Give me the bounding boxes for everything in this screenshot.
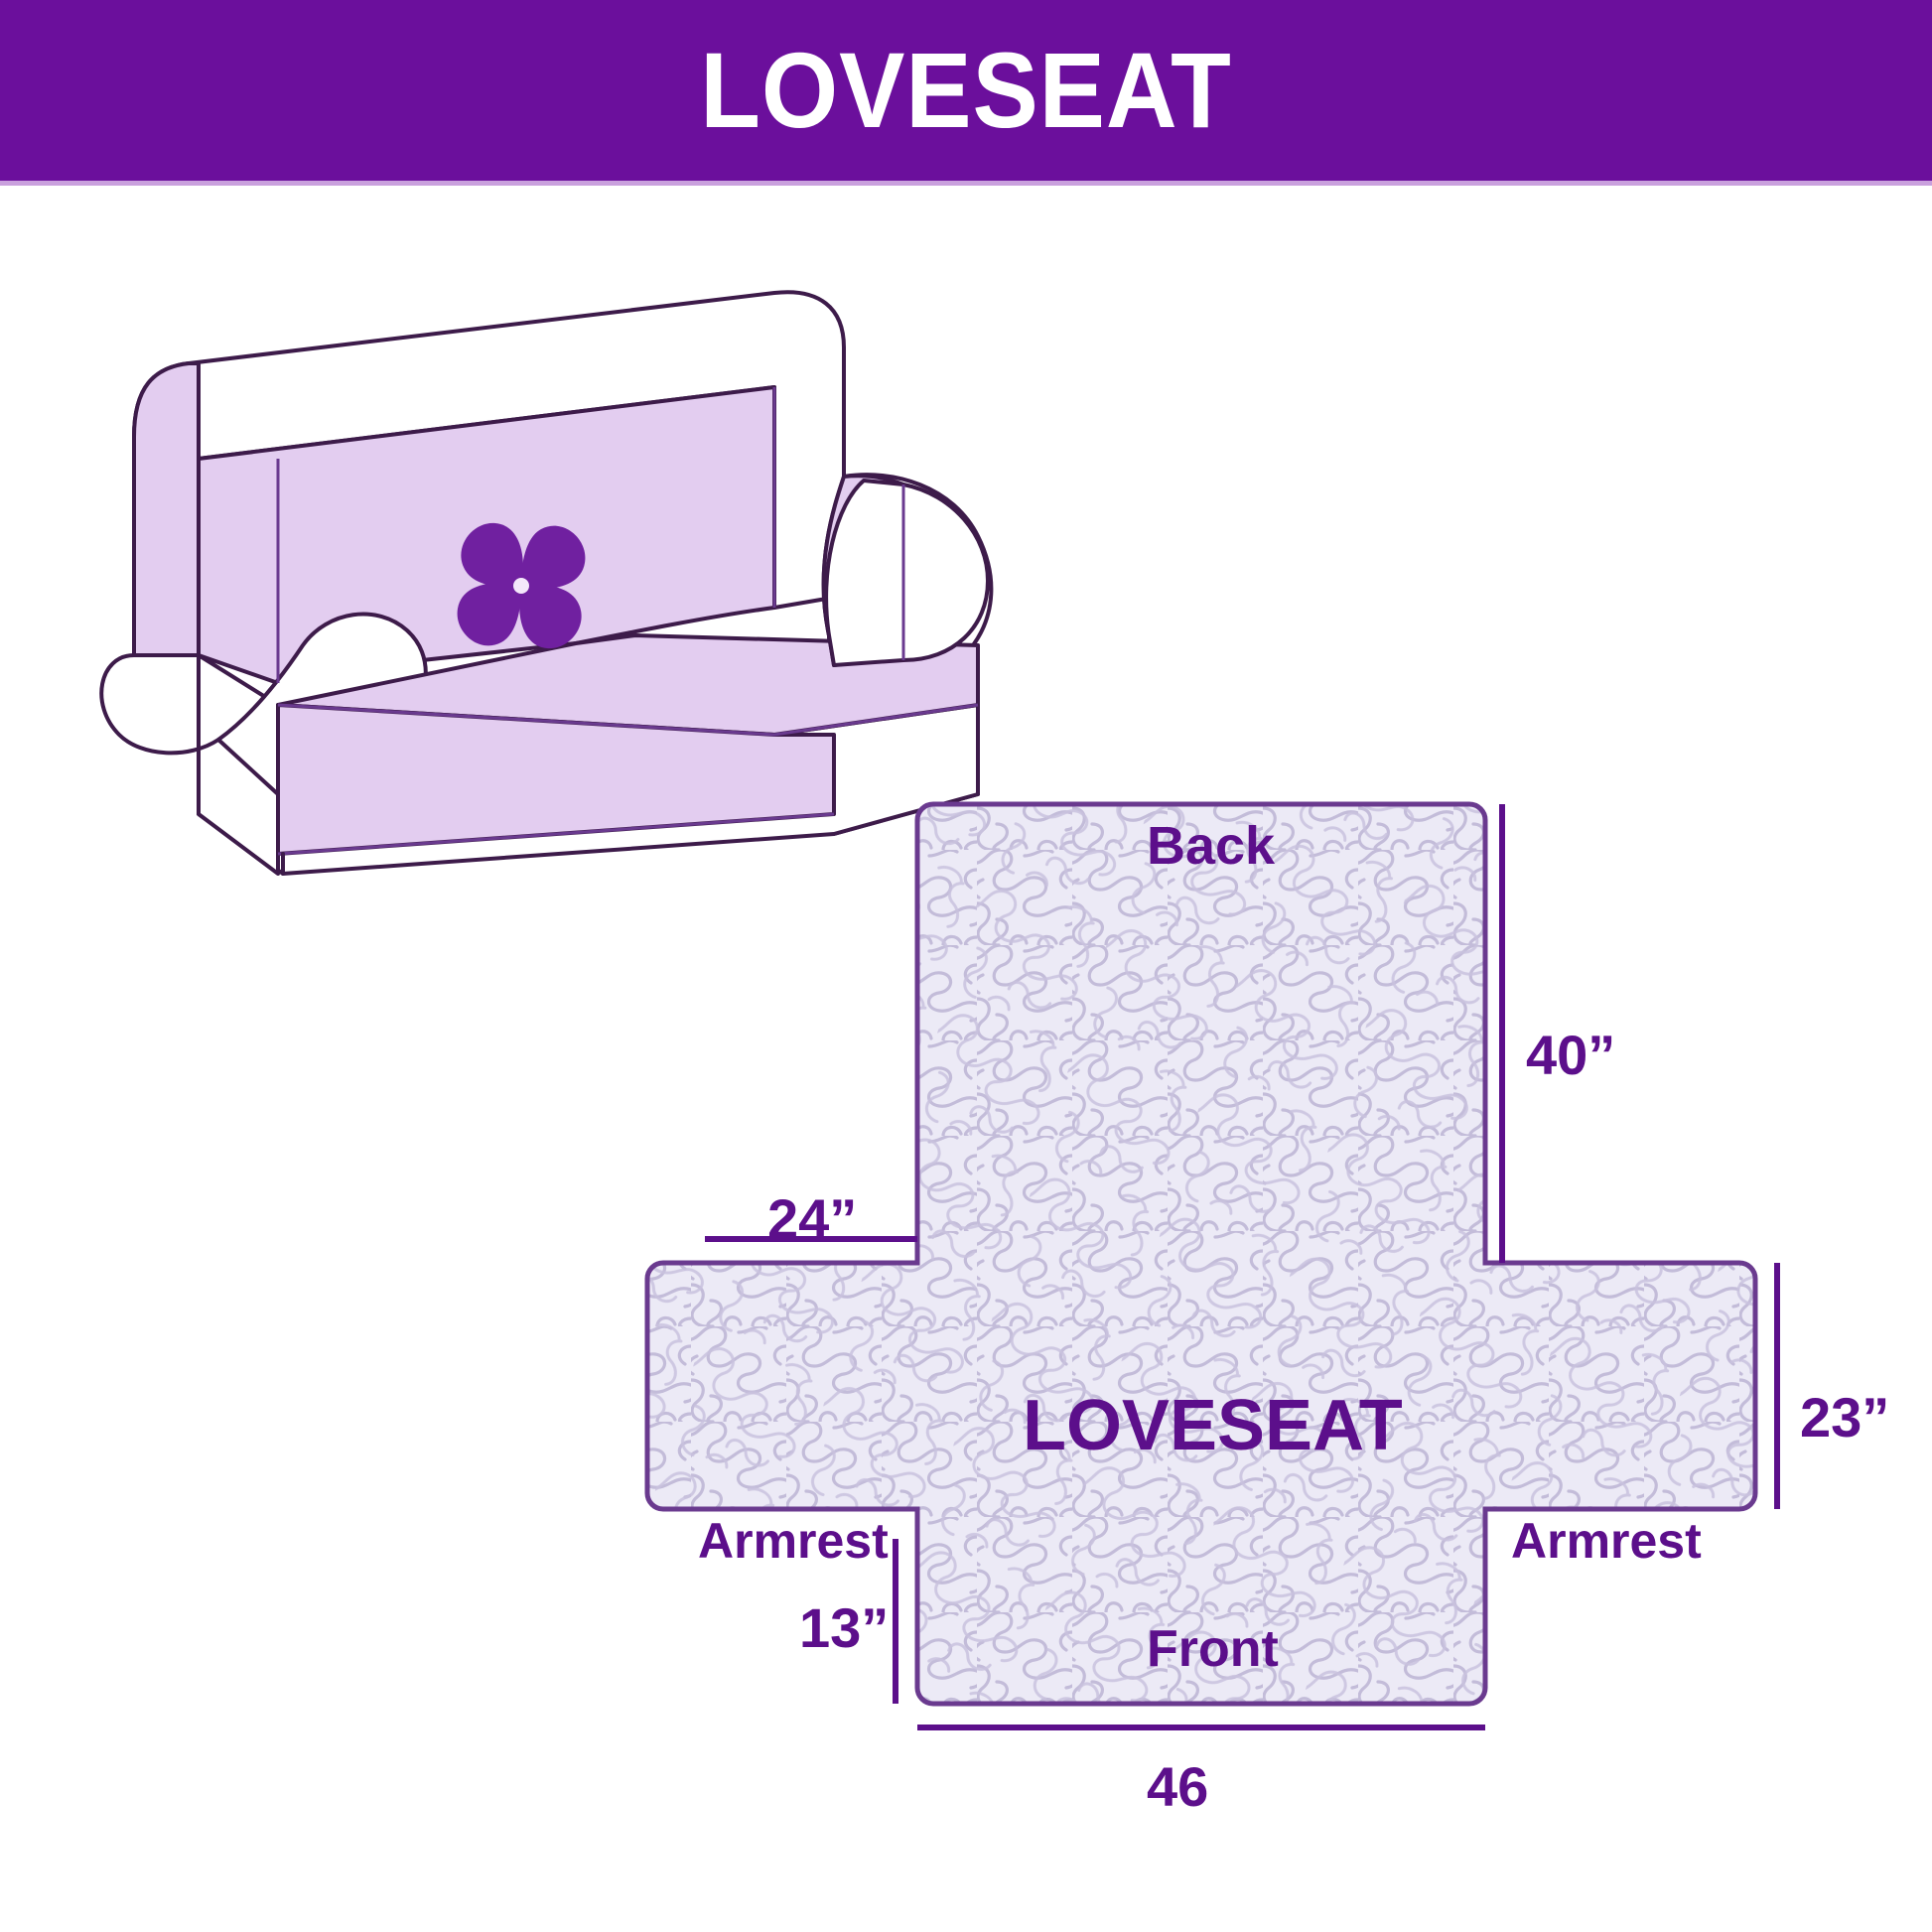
dimension-label-front-width: 46 — [1147, 1759, 1208, 1815]
page-header: LOVESEAT — [0, 0, 1932, 181]
dimension-label-back-width: 24” — [767, 1191, 857, 1247]
panel-label-armrest-right: Armrest — [1511, 1516, 1702, 1566]
dimension-label-armrest-height: 23” — [1800, 1390, 1889, 1446]
dimension-label-front-height: 13” — [799, 1600, 889, 1656]
panel-label-back: Back — [1147, 819, 1275, 873]
panel-label-front: Front — [1147, 1623, 1279, 1675]
diagram-center-label: LOVESEAT — [1023, 1390, 1403, 1461]
panel-label-armrest-left: Armrest — [698, 1516, 889, 1566]
dimension-label-back-height: 40” — [1526, 1028, 1615, 1083]
header-underline — [0, 181, 1932, 186]
page-title: LOVESEAT — [700, 37, 1232, 144]
